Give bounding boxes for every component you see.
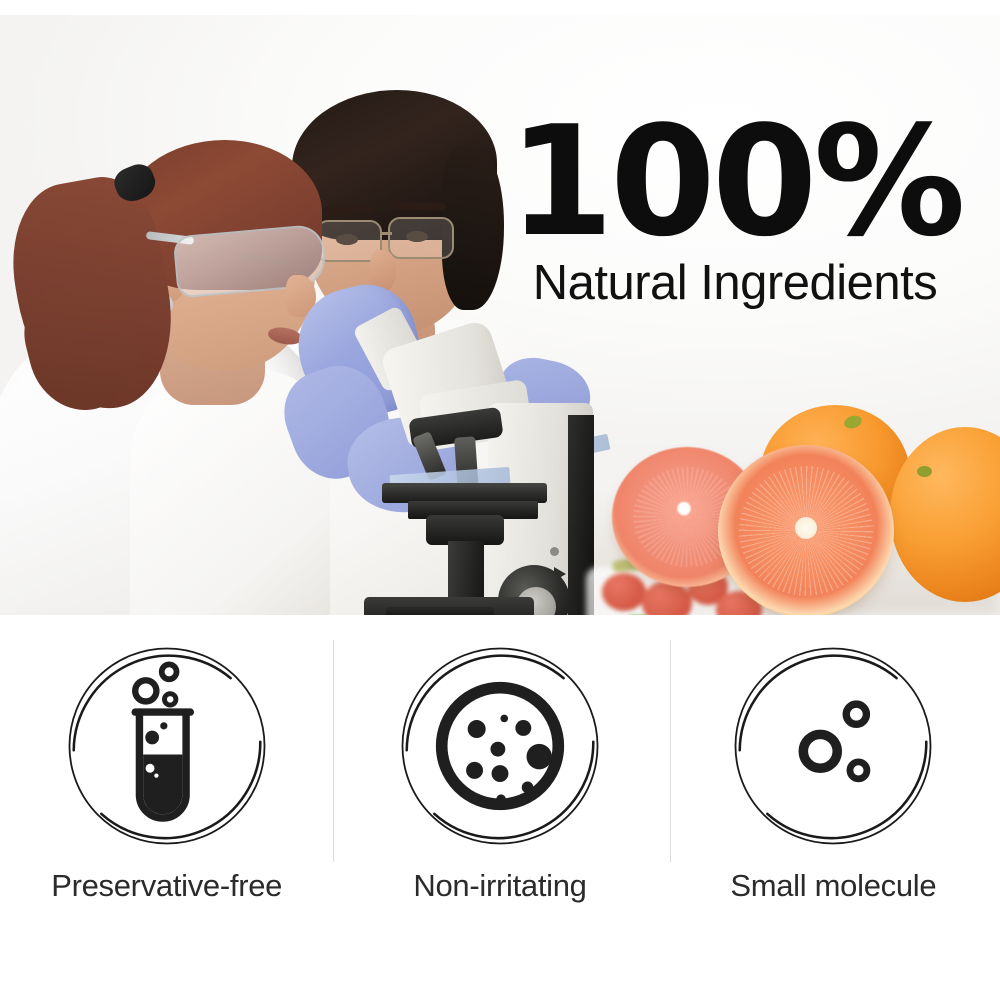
feature-band: Preservative-free [0,618,1000,1000]
microscope-stage [382,483,547,503]
small-molecule-rings-icon [727,640,939,852]
feature-small-molecule[interactable]: Small molecule [667,618,1000,1000]
test-tube-bubbles-icon [61,640,273,852]
feature-label: Small molecule [730,868,936,904]
feature-label: Non-irritating [413,868,586,904]
eyeglasses-lens-right [388,217,454,259]
eyeglasses-bridge [380,232,392,235]
product-infographic-page: 100% Natural Ingredients [0,0,1000,1000]
headline-percentage: 100% [500,110,970,254]
feature-non-irritating[interactable]: Non-irritating [333,618,666,1000]
hero-photo: 100% Natural Ingredients [0,15,1000,615]
orange-half-foreground [718,445,894,615]
feature-label: Preservative-free [51,868,282,904]
headline-subtitle: Natural Ingredients [500,258,970,309]
feature-preservative-free[interactable]: Preservative-free [0,618,333,1000]
headline-block: 100% Natural Ingredients [500,110,970,310]
petri-dish-dots-icon [394,640,606,852]
tomato [602,573,646,611]
microscope-base-plate [386,607,494,615]
microscope-screw [550,547,559,556]
